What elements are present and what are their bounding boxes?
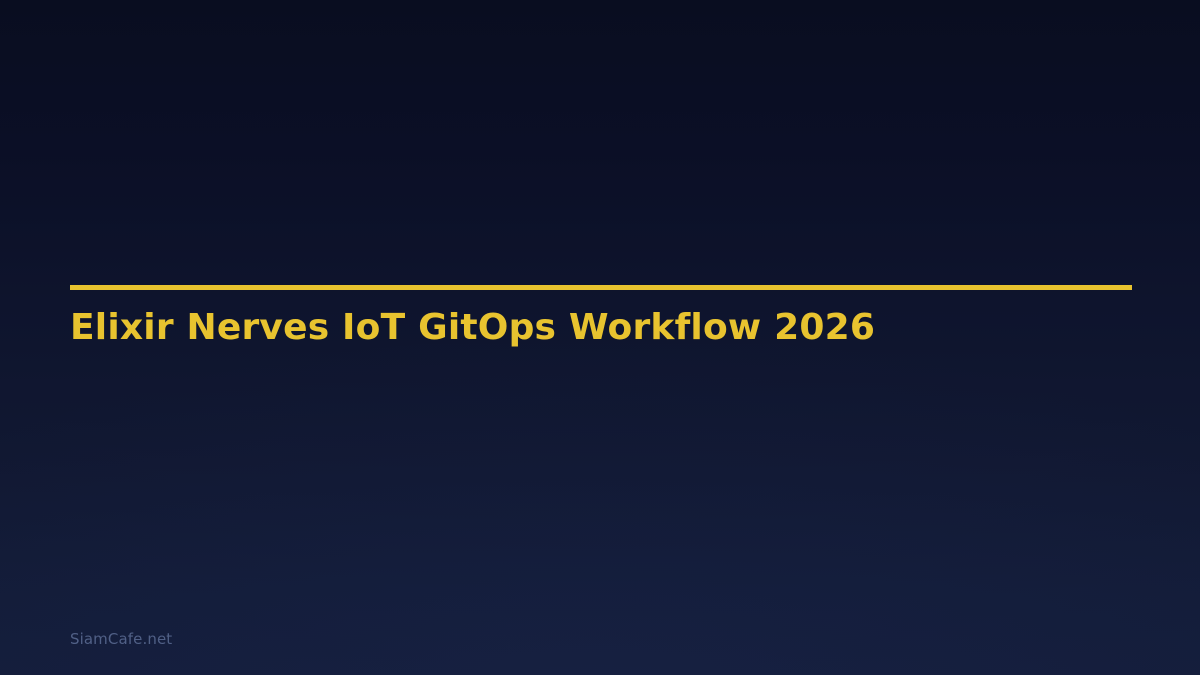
watermark-label: SiamCafe.net xyxy=(70,630,172,648)
title-block: Elixir Nerves IoT GitOps Workflow 2026 xyxy=(70,285,1132,290)
page-title: Elixir Nerves IoT GitOps Workflow 2026 xyxy=(70,307,875,349)
accent-rule xyxy=(70,285,1132,290)
title-slide: Elixir Nerves IoT GitOps Workflow 2026 S… xyxy=(0,0,1200,675)
